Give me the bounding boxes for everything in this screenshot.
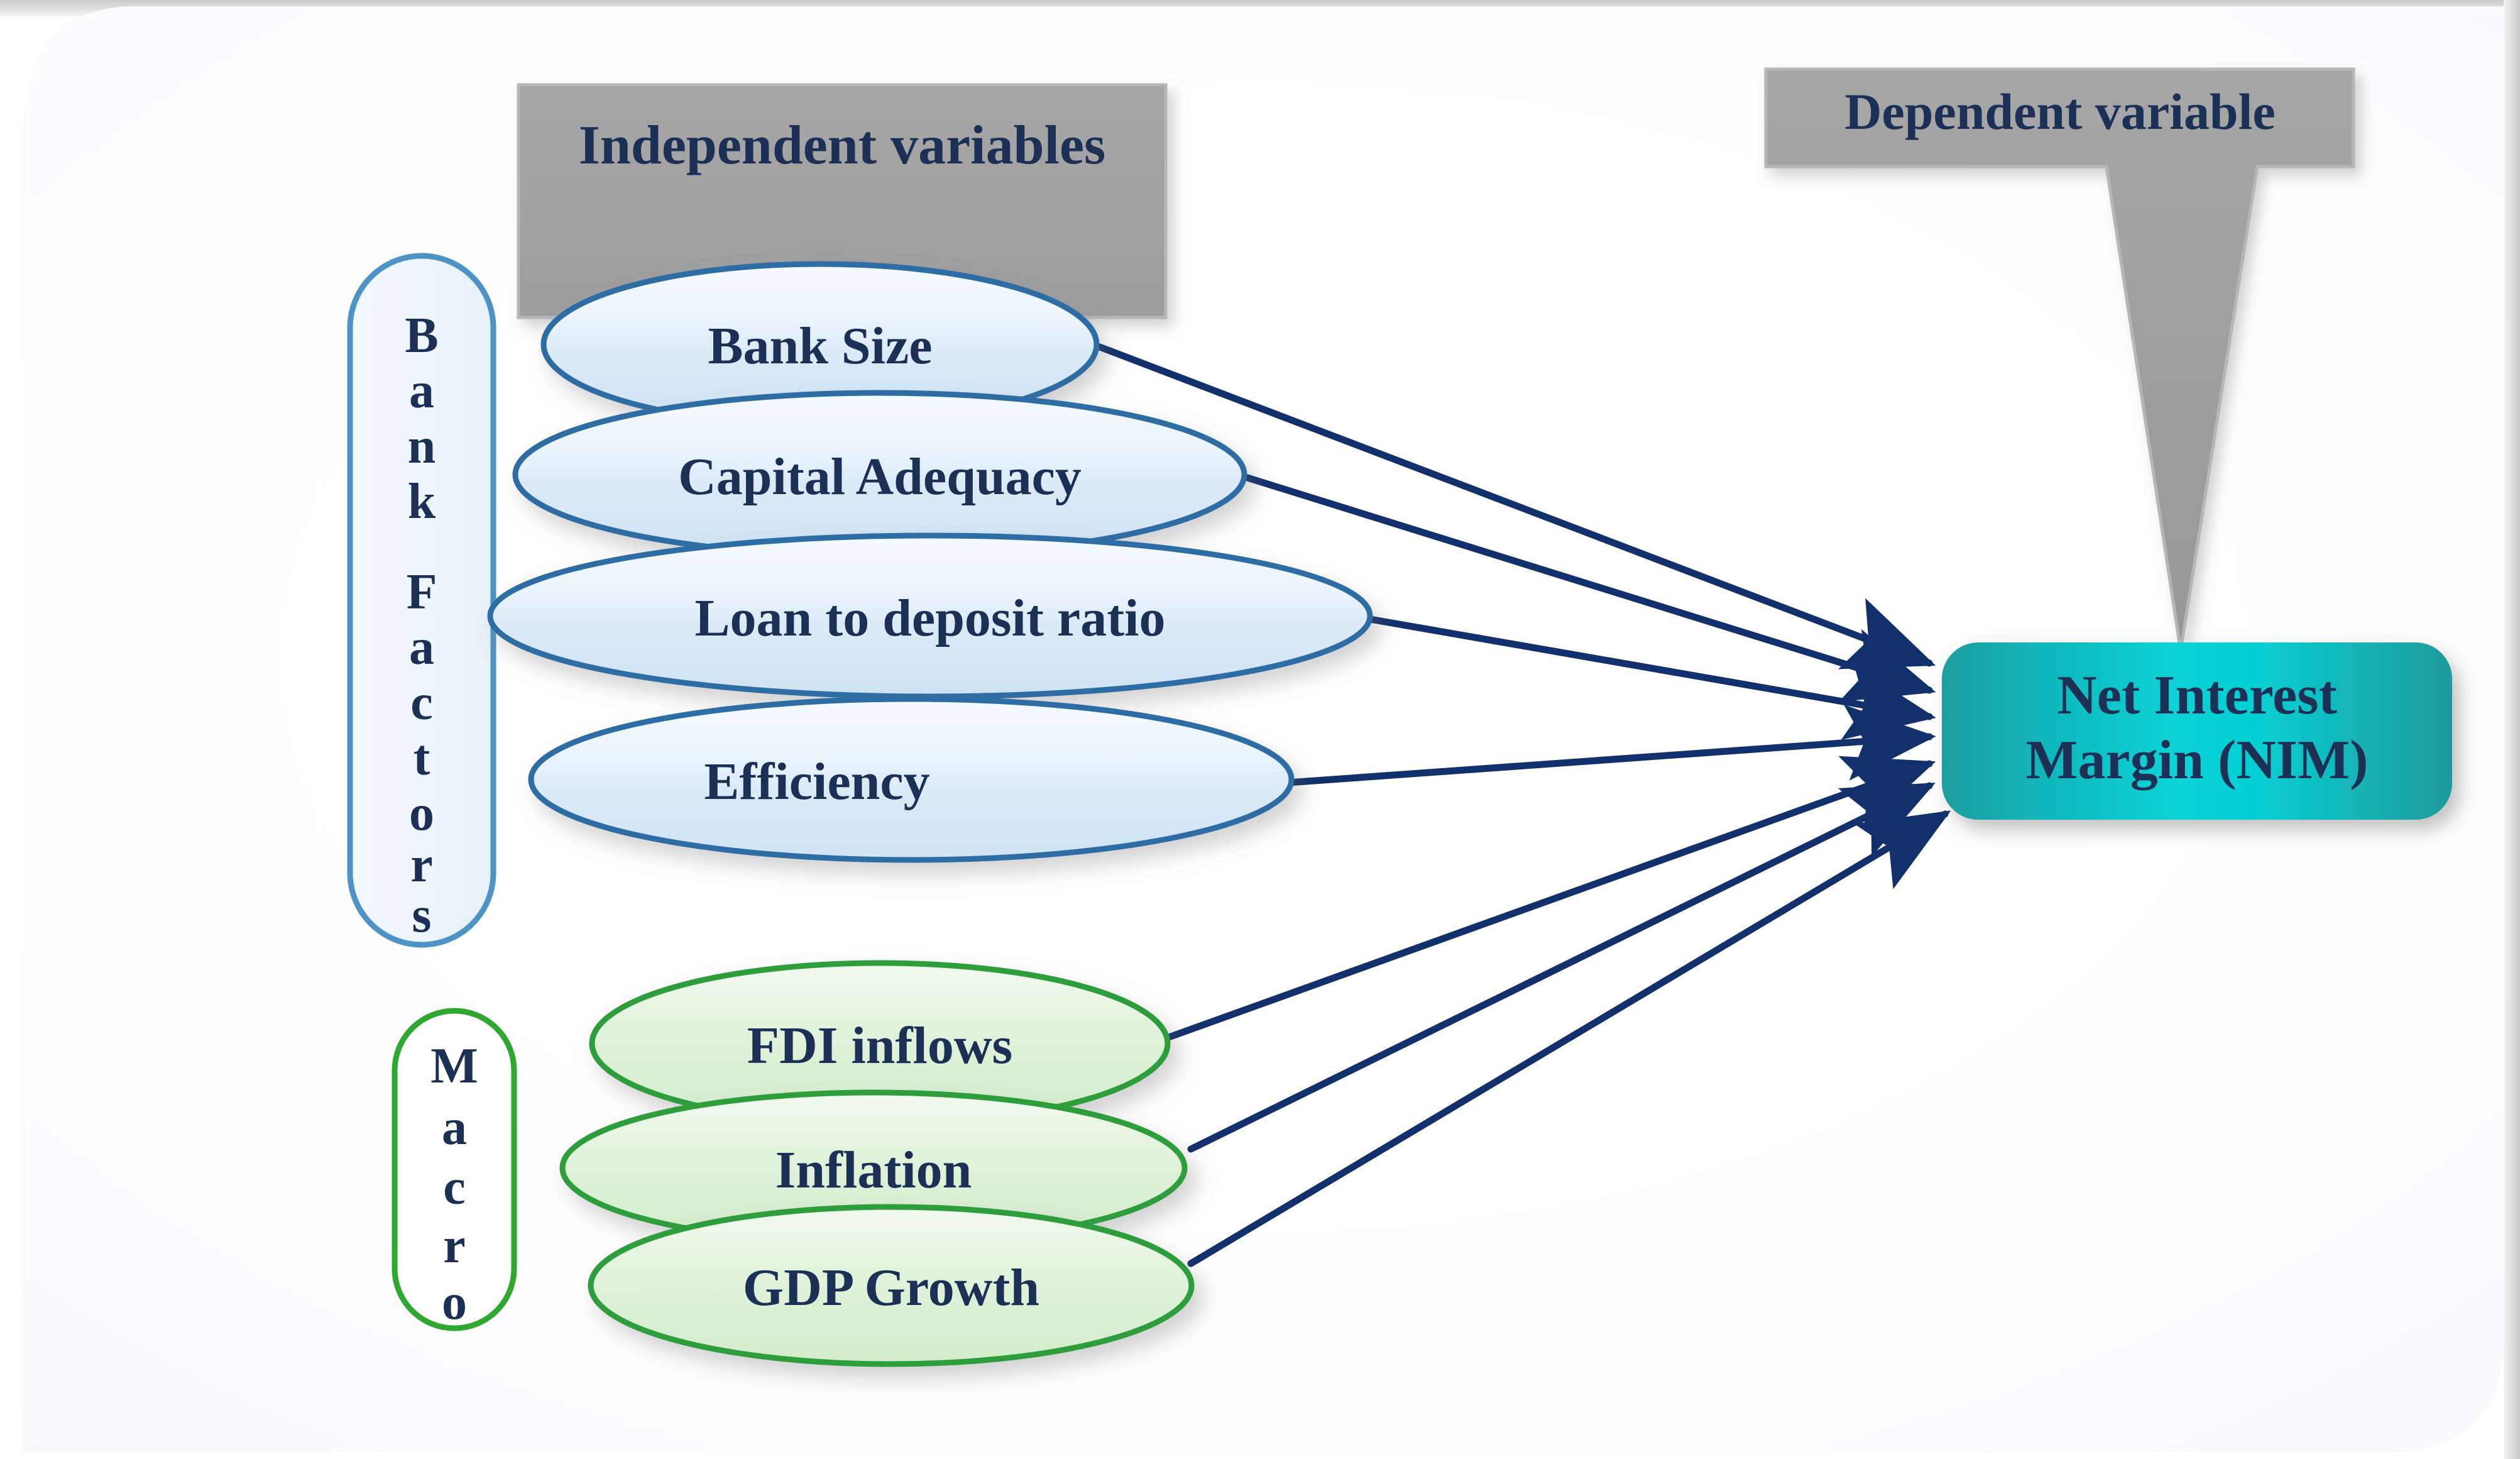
node-gdp-growth[interactable]: GDP Growth xyxy=(591,1207,1192,1364)
efficiency-label: Efficiency xyxy=(704,752,929,811)
inflation-label: Inflation xyxy=(775,1141,972,1199)
fdi-inflows-label: FDI inflows xyxy=(747,1016,1012,1075)
loan-to-deposit-ratio-label: Loan to deposit ratio xyxy=(694,589,1165,647)
gdp-growth-label: GDP Growth xyxy=(743,1258,1039,1317)
node-capital-adequacy[interactable]: Capital Adequacy xyxy=(515,393,1244,556)
callout-dependent-label: Dependent variable xyxy=(1844,83,2276,140)
bank-factors-letter: o xyxy=(409,786,434,841)
net-interest-margin-line2: Margin (NIM) xyxy=(2026,730,2369,791)
bank-factors-letter: B xyxy=(405,308,438,363)
bank-factors-letter: k xyxy=(408,474,436,529)
bank-factors-letter: r xyxy=(410,837,433,893)
bank-factors-letter: a xyxy=(409,363,434,419)
macro-letter: c xyxy=(443,1160,466,1215)
capital-adequacy-label: Capital Adequacy xyxy=(678,448,1082,506)
macro-letter: r xyxy=(443,1218,466,1274)
group-bank-factors: B a n k F a c t o r s xyxy=(350,256,493,945)
node-efficiency[interactable]: Efficiency xyxy=(531,699,1291,860)
group-macro: M a c r o xyxy=(395,1011,514,1330)
macro-letter: M xyxy=(430,1038,478,1094)
bank-factors-letter: t xyxy=(414,730,430,786)
bank-factors-letter: c xyxy=(410,675,433,730)
bank-factors-letter: n xyxy=(408,419,436,474)
macro-letter: o xyxy=(442,1275,467,1330)
node-net-interest-margin[interactable]: Net Interest Margin (NIM) xyxy=(1942,642,2452,820)
bank-factors-letter: F xyxy=(407,564,437,620)
bank-factors-letter: a xyxy=(409,620,434,675)
macro-letter: a xyxy=(442,1100,467,1155)
net-interest-margin-line1: Net Interest xyxy=(2057,665,2337,726)
callout-independent-label: Independent variables xyxy=(579,115,1106,176)
node-loan-to-deposit-ratio[interactable]: Loan to deposit ratio xyxy=(490,536,1370,696)
bank-size-label: Bank Size xyxy=(708,317,932,375)
diagram-canvas: Independent variables Dependent variable… xyxy=(0,0,2520,1459)
bank-factors-letter: s xyxy=(412,888,431,943)
frame-edge-right xyxy=(2504,0,2520,1459)
